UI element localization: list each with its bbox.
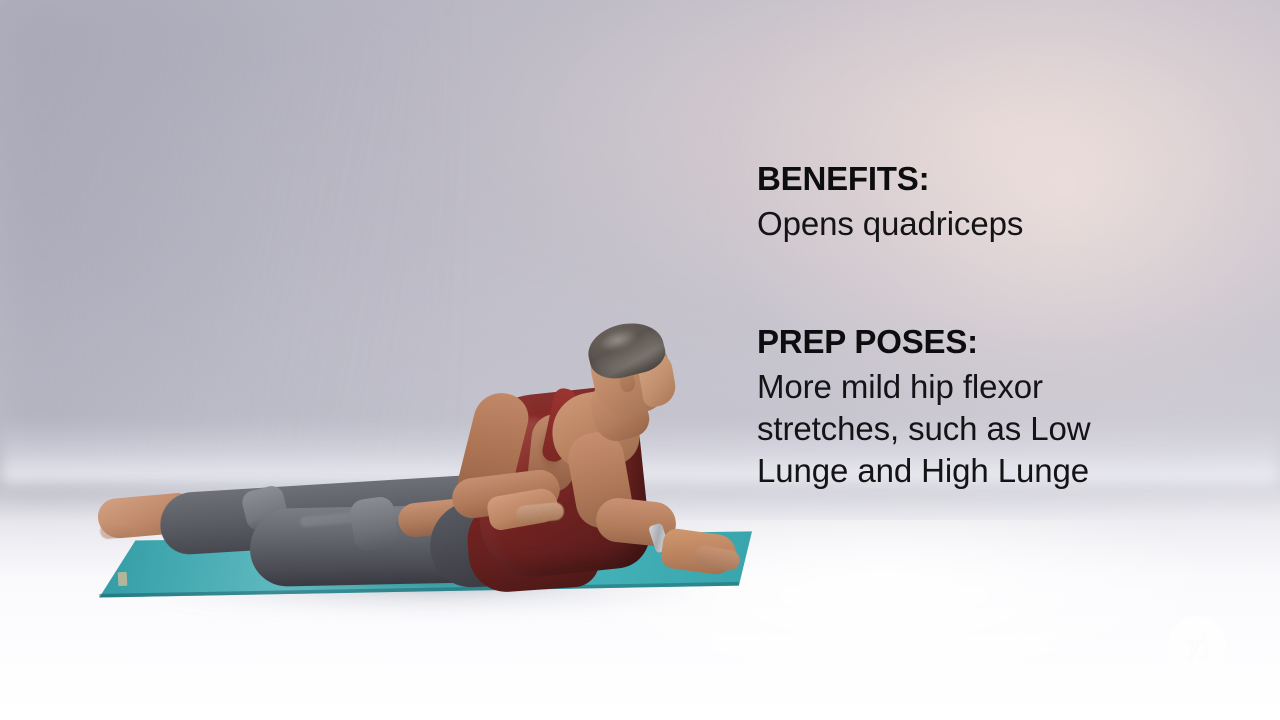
mat-label-tag (118, 572, 128, 586)
caption-prep-poses: PREP POSES: More mild hip flexor stretch… (757, 323, 1227, 492)
video-frame: BENEFITS: Opens quadriceps PREP POSES: M… (0, 0, 1280, 720)
yj-logo-text: yj (1186, 630, 1207, 660)
caption-overlay: BENEFITS: Opens quadriceps PREP POSES: M… (757, 160, 1227, 492)
prep-poses-body: More mild hip flexor stretches, such as … (757, 366, 1227, 492)
prep-poses-heading: PREP POSES: (757, 323, 1227, 361)
pant-cuff-near (349, 495, 400, 553)
benefits-body: Opens quadriceps (757, 203, 1227, 245)
benefits-heading: BENEFITS: (757, 160, 1227, 198)
yoga-journal-watermark: yj (1168, 616, 1226, 674)
caption-benefits: BENEFITS: Opens quadriceps (757, 160, 1227, 245)
